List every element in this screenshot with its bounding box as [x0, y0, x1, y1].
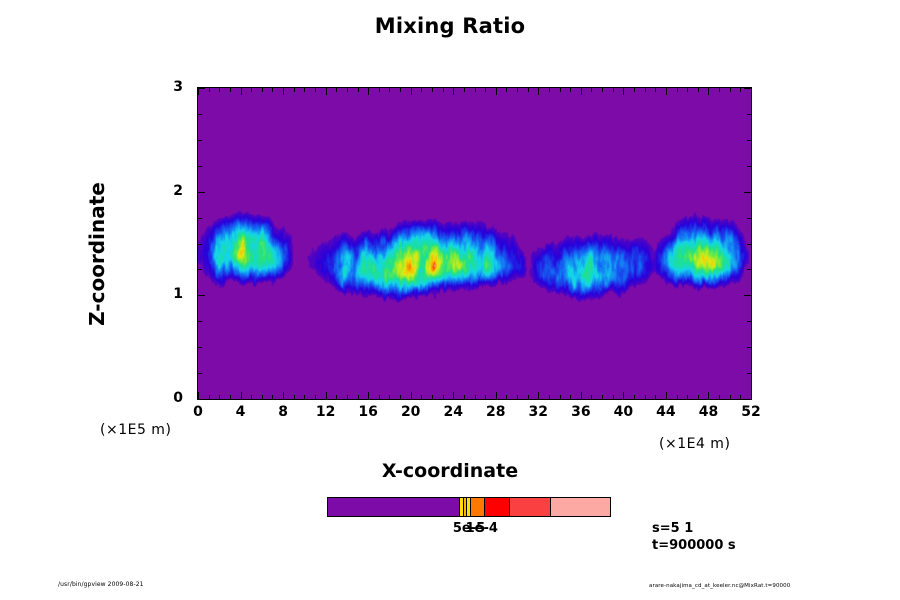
y-tick	[198, 373, 202, 374]
x-tick-top	[634, 88, 635, 92]
y-tick-right	[747, 114, 751, 115]
x-tick-top	[453, 88, 454, 95]
y-tick-right	[747, 140, 751, 141]
y-tick-right	[744, 295, 751, 296]
footer-command: /usr/bin/gpview 2009-08-21	[58, 581, 144, 588]
x-tick-top	[719, 88, 720, 92]
colorbar	[327, 497, 611, 517]
x-tick-top	[230, 88, 231, 92]
y-axis-unit: (×1E5 m)	[100, 422, 171, 438]
x-tick	[528, 395, 529, 399]
x-tick	[262, 395, 263, 399]
x-tick	[570, 395, 571, 399]
x-tick	[368, 392, 369, 399]
x-tick-top	[506, 88, 507, 92]
x-tick	[496, 392, 497, 399]
x-tick-top	[400, 88, 401, 92]
y-tick	[198, 399, 205, 400]
x-tick	[241, 392, 242, 399]
x-tick	[315, 395, 316, 399]
x-tick-top	[698, 88, 699, 92]
x-tick-label: 28	[476, 404, 516, 420]
x-tick	[549, 395, 550, 399]
x-tick-top	[251, 88, 252, 92]
y-tick-right	[744, 399, 751, 400]
x-tick	[379, 395, 380, 399]
x-tick-top	[677, 88, 678, 92]
x-tick-top	[347, 88, 348, 92]
x-tick-top	[411, 88, 412, 95]
x-tick-top	[358, 88, 359, 92]
figure-canvas: Mixing Ratio Z-coordinate 04812162024283…	[0, 0, 900, 600]
y-tick	[198, 192, 205, 193]
colorbar-segment	[470, 498, 484, 516]
x-tick-top	[219, 88, 220, 92]
x-tick-top	[294, 88, 295, 92]
x-tick-label: 8	[263, 404, 303, 420]
y-tick	[198, 321, 202, 322]
x-axis-unit: (×1E4 m)	[659, 436, 730, 452]
x-tick-top	[613, 88, 614, 92]
x-tick	[251, 395, 252, 399]
x-tick	[389, 395, 390, 399]
x-tick	[336, 395, 337, 399]
x-tick-top	[283, 88, 284, 95]
x-tick-label: 52	[731, 404, 771, 420]
y-axis-title: Z-coordinate	[85, 154, 109, 354]
y-tick-right	[747, 218, 751, 219]
x-tick-top	[645, 88, 646, 92]
x-tick	[517, 395, 518, 399]
x-tick-top	[198, 88, 199, 95]
x-tick-top	[464, 88, 465, 92]
x-tick	[272, 395, 273, 399]
x-axis-title: X-coordinate	[0, 460, 900, 482]
x-tick-top	[666, 88, 667, 95]
x-tick	[655, 395, 656, 399]
x-tick	[730, 395, 731, 399]
y-tick-right	[744, 88, 751, 89]
x-tick-top	[570, 88, 571, 92]
y-tick-right	[747, 347, 751, 348]
x-tick-top	[379, 88, 380, 92]
y-tick	[198, 166, 202, 167]
x-tick-top	[432, 88, 433, 92]
footer-source: arare-nakajima_cd_at_keeler.nc@MixRat.t=…	[649, 583, 790, 589]
x-tick	[740, 395, 741, 399]
x-tick	[719, 395, 720, 399]
annotation-s: s=5 1	[652, 521, 693, 536]
y-tick	[198, 218, 202, 219]
x-tick-top	[740, 88, 741, 92]
x-tick-top	[517, 88, 518, 92]
x-tick-top	[315, 88, 316, 92]
x-tick-top	[528, 88, 529, 92]
colorbar-tick-label: 1e-4	[452, 521, 512, 536]
x-tick-top	[241, 88, 242, 95]
x-tick	[751, 392, 752, 399]
x-tick-label: 20	[391, 404, 431, 420]
x-tick	[400, 395, 401, 399]
x-tick	[464, 395, 465, 399]
x-tick-top	[496, 88, 497, 95]
y-tick	[198, 295, 205, 296]
x-tick	[485, 395, 486, 399]
x-tick	[198, 392, 199, 399]
plot-area	[197, 87, 752, 400]
x-tick-top	[443, 88, 444, 92]
y-tick-label: 0	[157, 390, 183, 406]
x-tick	[209, 395, 210, 399]
x-tick	[613, 395, 614, 399]
x-tick	[506, 395, 507, 399]
x-tick-top	[368, 88, 369, 95]
x-tick	[698, 395, 699, 399]
y-tick-right	[744, 192, 751, 193]
x-tick	[666, 392, 667, 399]
y-tick-right	[747, 269, 751, 270]
x-tick-top	[708, 88, 709, 95]
x-tick-label: 0	[178, 404, 218, 420]
x-tick	[358, 395, 359, 399]
x-tick-label: 48	[688, 404, 728, 420]
y-tick-label: 1	[157, 286, 183, 302]
y-tick-label: 2	[157, 183, 183, 199]
x-tick-top	[560, 88, 561, 92]
x-tick-label: 40	[603, 404, 643, 420]
x-tick-top	[591, 88, 592, 92]
x-tick	[560, 395, 561, 399]
x-tick-top	[336, 88, 337, 92]
x-tick-top	[389, 88, 390, 92]
y-tick	[198, 244, 202, 245]
mixing-ratio-field	[198, 88, 751, 399]
x-tick-top	[623, 88, 624, 95]
x-tick-top	[730, 88, 731, 92]
y-tick-right	[747, 321, 751, 322]
x-tick	[304, 395, 305, 399]
x-tick-label: 16	[348, 404, 388, 420]
y-tick-right	[747, 244, 751, 245]
x-tick-top	[602, 88, 603, 92]
annotation-time: t=900000 s	[652, 538, 736, 553]
x-tick-label: 12	[306, 404, 346, 420]
x-tick	[634, 395, 635, 399]
x-tick	[475, 395, 476, 399]
y-tick-label: 3	[157, 79, 183, 95]
x-tick-label: 24	[433, 404, 473, 420]
x-tick	[453, 392, 454, 399]
x-tick	[708, 392, 709, 399]
x-tick-top	[549, 88, 550, 92]
x-tick	[347, 395, 348, 399]
x-tick-top	[475, 88, 476, 92]
x-tick-top	[655, 88, 656, 92]
y-tick	[198, 88, 205, 89]
x-tick	[326, 392, 327, 399]
x-tick	[623, 392, 624, 399]
x-tick-top	[751, 88, 752, 95]
x-tick-label: 44	[646, 404, 686, 420]
x-tick	[538, 392, 539, 399]
x-tick	[230, 395, 231, 399]
y-tick-right	[747, 166, 751, 167]
x-tick	[219, 395, 220, 399]
x-tick	[283, 392, 284, 399]
x-tick	[602, 395, 603, 399]
x-tick-label: 4	[221, 404, 261, 420]
x-tick-top	[421, 88, 422, 92]
x-tick	[591, 395, 592, 399]
x-tick	[443, 395, 444, 399]
x-tick-label: 32	[518, 404, 558, 420]
colorbar-segment	[509, 498, 550, 516]
x-tick	[687, 395, 688, 399]
x-tick-top	[687, 88, 688, 92]
x-tick	[581, 392, 582, 399]
colorbar-segment	[484, 498, 509, 516]
x-tick-top	[538, 88, 539, 95]
y-tick-right	[747, 373, 751, 374]
x-tick-top	[272, 88, 273, 92]
x-tick-top	[581, 88, 582, 95]
y-tick	[198, 114, 202, 115]
chart-title: Mixing Ratio	[0, 14, 900, 38]
x-tick-top	[262, 88, 263, 92]
x-tick-top	[304, 88, 305, 92]
x-tick-top	[209, 88, 210, 92]
x-tick	[411, 392, 412, 399]
x-tick	[677, 395, 678, 399]
y-tick	[198, 269, 202, 270]
x-tick	[421, 395, 422, 399]
x-tick	[645, 395, 646, 399]
x-tick	[432, 395, 433, 399]
y-tick	[198, 347, 202, 348]
x-tick-top	[326, 88, 327, 95]
colorbar-segment	[550, 498, 610, 516]
x-tick-label: 36	[561, 404, 601, 420]
x-tick-top	[485, 88, 486, 92]
x-tick	[294, 395, 295, 399]
colorbar-segment	[328, 498, 459, 516]
y-tick	[198, 140, 202, 141]
